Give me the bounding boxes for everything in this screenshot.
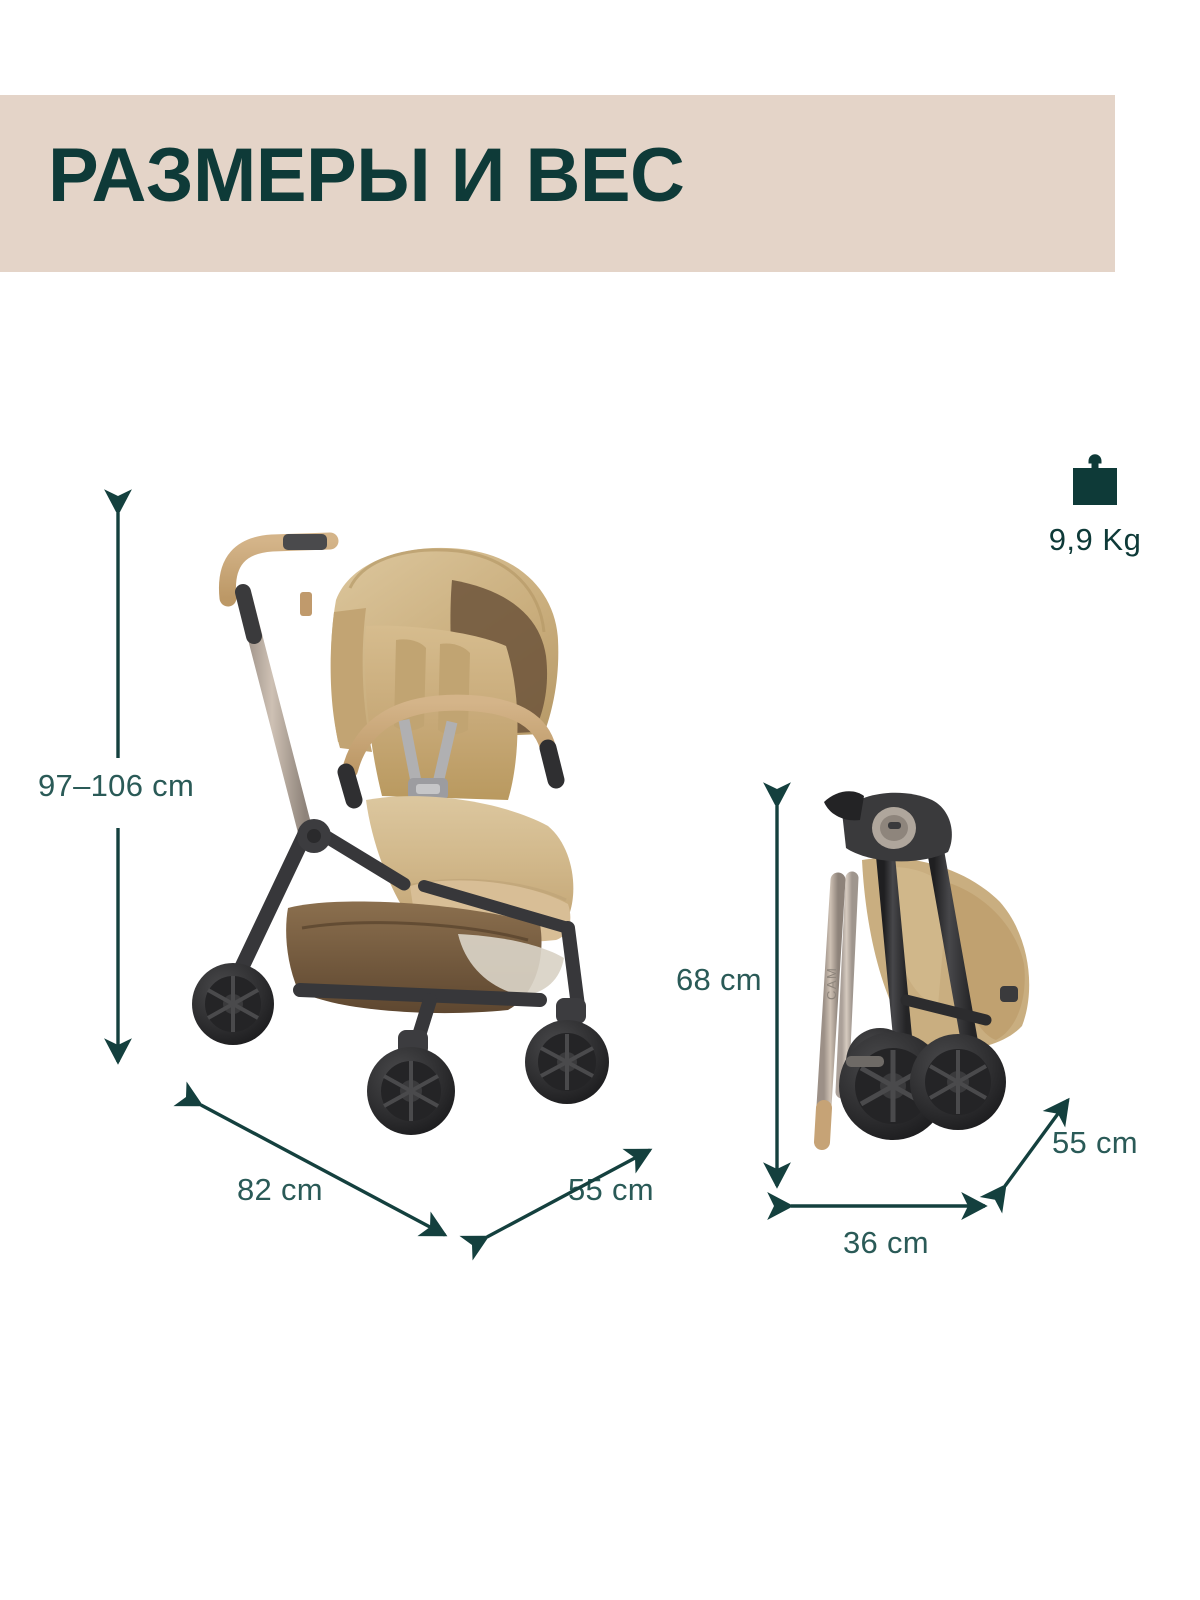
dimension-arrow-folded-depth	[1005, 1100, 1068, 1186]
wheel-front-right	[525, 998, 609, 1104]
stroller-folded-illustration: CAM	[822, 791, 1029, 1142]
dimension-arrow-width	[487, 1150, 650, 1237]
wheel-rear-left	[192, 963, 274, 1045]
svg-text:CAM: CAM	[824, 967, 839, 1000]
product-diagram-layer: CAM	[0, 0, 1200, 1600]
wheel-front-center	[367, 1030, 455, 1135]
dimensions-and-weight-page: РАЗМЕРЫ И ВЕС 9,9 Kg 97–106 cm 82 cm 55 …	[0, 0, 1200, 1600]
stroller-open-illustration	[192, 534, 609, 1135]
folded-wheel-front-right	[910, 1034, 1006, 1130]
